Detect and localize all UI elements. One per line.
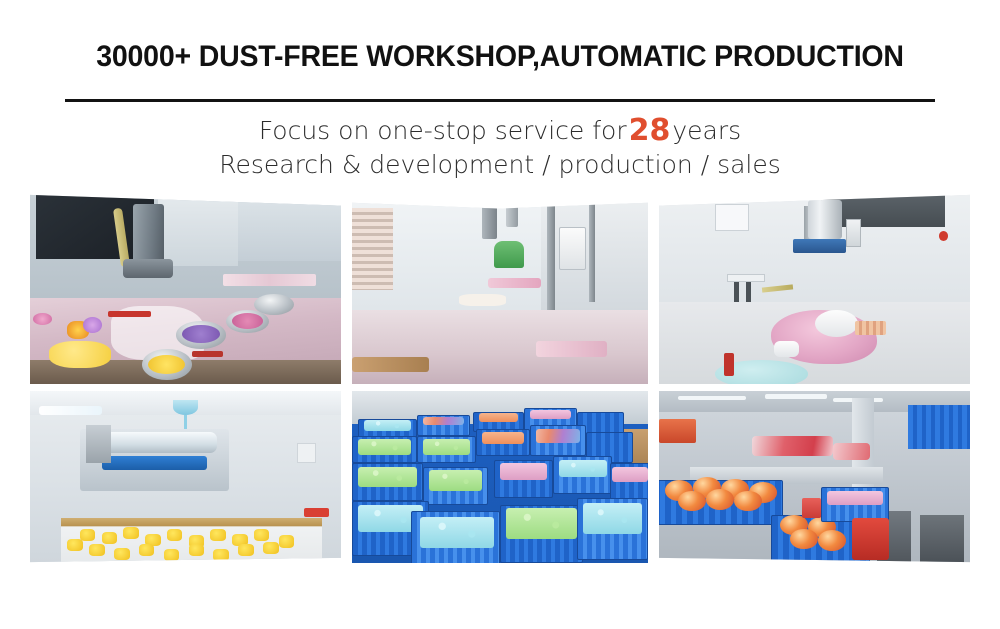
production-line-scene	[352, 188, 648, 384]
photo-bottom-left	[30, 391, 341, 563]
photo-top-center	[352, 188, 648, 384]
packing-yellow-stars-scene	[30, 391, 341, 563]
photo-bottom-center	[352, 391, 648, 563]
photo-bottom-right	[659, 391, 970, 563]
workshop-assembly-scene	[30, 188, 341, 384]
packing-floor-scene	[659, 391, 970, 563]
photo-top-right	[659, 188, 970, 384]
crates-warehouse-scene	[352, 391, 648, 563]
press-machine-scene	[659, 188, 970, 384]
photo-top-left	[30, 188, 341, 384]
photo-gallery	[0, 0, 1000, 629]
workshop-banner: 30000+ DUST-FREE WORKSHOP,AUTOMATIC PROD…	[0, 0, 1000, 629]
